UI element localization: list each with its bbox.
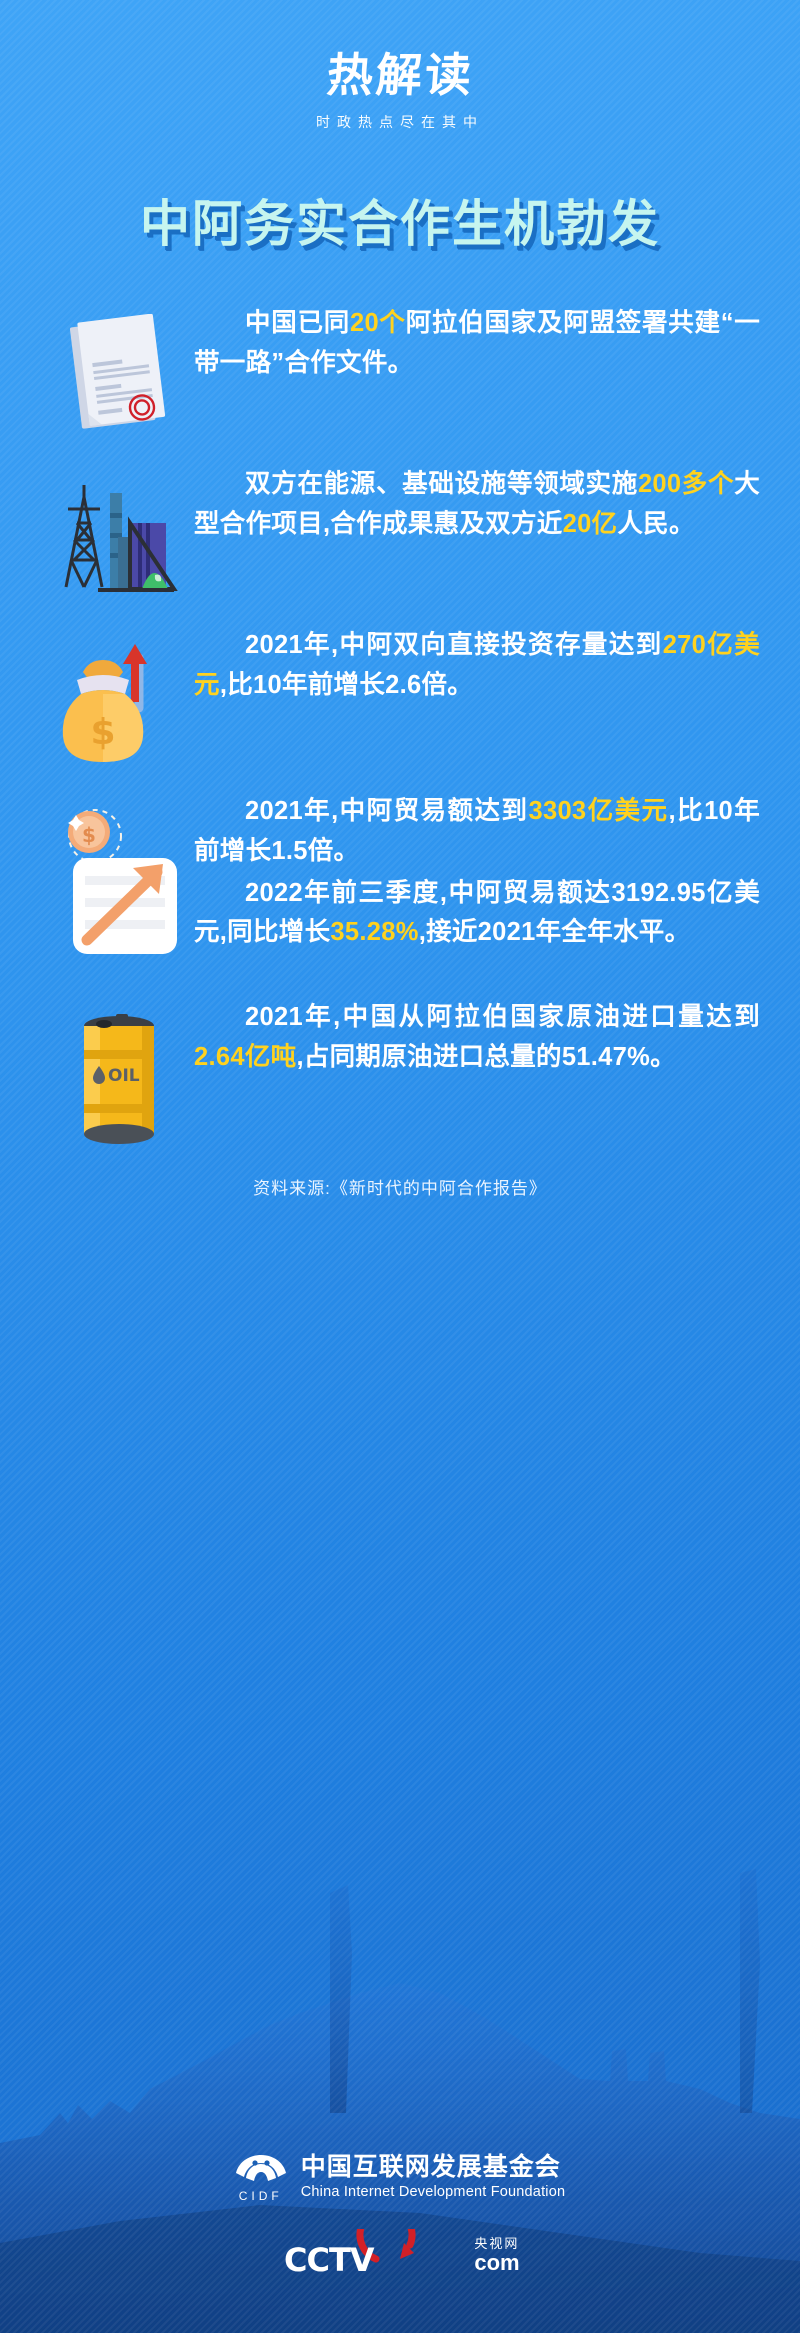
stat-paragraph: 2021年,中阿贸易额达到3303亿美元,比10年前增长1.5倍。 — [194, 792, 760, 872]
footer: CIDF 中国互联网发展基金会 China Internet Developme… — [0, 2151, 800, 2281]
cctv-com-mark: CCTV — [280, 2229, 480, 2281]
cidf-mark: CIDF — [235, 2151, 287, 2203]
stat-block: 中国已同20个阿拉伯国家及阿盟签署共建“一带一路”合作文件。 — [0, 304, 800, 439]
stat-paragraph: 2022年前三季度,中阿贸易额达3192.95亿美元,同比增长35.28%,接近… — [194, 874, 760, 954]
highlight-figure: 20个 — [350, 309, 406, 337]
icon-slot — [44, 465, 194, 600]
stat-block: OIL 2021年,中国从阿拉伯国家原油进口量达到2.64亿吨,占同期原油进口总… — [0, 998, 800, 1148]
oil-barrel-icon: OIL — [64, 1008, 174, 1148]
page-title: 中阿务实合作生机勃发 — [0, 184, 800, 256]
text-slot: 2021年,中阿贸易额达到3303亿美元,比10年前增长1.5倍。2022年前三… — [194, 792, 764, 953]
highlight-figure: 3303亿美元 — [528, 797, 668, 825]
energy-infrastructure-icon — [54, 475, 184, 600]
icon-slot — [44, 304, 194, 439]
highlight-figure: 35.28% — [330, 918, 418, 946]
money-bag-icon: $ — [59, 636, 179, 766]
stat-paragraph: 中国已同20个阿拉伯国家及阿盟签署共建“一带一路”合作文件。 — [194, 304, 760, 384]
svg-text:$: $ — [82, 823, 96, 847]
svg-text:$: $ — [90, 712, 115, 753]
paragraph-text: 2021年,中阿双向直接投资存量达到 — [245, 631, 663, 659]
paragraph-text: 中国已同 — [245, 309, 350, 337]
paragraph-text: 人民。 — [617, 510, 694, 538]
source-note: 资料来源:《新时代的中阿合作报告》 — [0, 1174, 800, 1209]
text-slot: 中国已同20个阿拉伯国家及阿盟签署共建“一带一路”合作文件。 — [194, 304, 764, 384]
text-slot: 2021年,中国从阿拉伯国家原油进口量达到2.64亿吨,占同期原油进口总量的51… — [194, 998, 764, 1078]
paragraph-text: ,接近2021年全年水平。 — [419, 918, 691, 946]
cctv-logo: CCTV 央视网 com — [0, 2229, 800, 2281]
paragraph-text: 双方在能源、基础设施等领域实施 — [245, 470, 638, 498]
stat-blocks: 中国已同20个阿拉伯国家及阿盟签署共建“一带一路”合作文件。 — [0, 304, 800, 1148]
stat-block: 双方在能源、基础设施等领域实施200多个大型合作项目,合作成果惠及双方近20亿人… — [0, 465, 800, 600]
paragraph-text: 2021年,中国从阿拉伯国家原油进口量达到 — [245, 1003, 760, 1031]
paragraph-text: 2021年,中阿贸易额达到 — [245, 797, 528, 825]
header: 热解读 时政热点尽在其中 — [0, 0, 800, 132]
stat-paragraph: 2021年,中阿双向直接投资存量达到270亿美元,比10年前增长2.6倍。 — [194, 626, 760, 706]
stat-block: $ 2021年,中阿双向直接投资存量达到270亿美元,比10年前增长2.6倍。 — [0, 626, 800, 766]
paragraph-text: ,比10年前增长2.6倍。 — [220, 671, 473, 699]
highlight-figure: 20亿 — [563, 510, 618, 538]
cidf-name-cn: 中国互联网发展基金会 — [301, 2154, 566, 2182]
trade-growth-chart-icon: $ — [55, 802, 183, 972]
cctv-name-cn: 央视网 — [474, 2237, 519, 2250]
icon-slot: $ — [44, 792, 194, 972]
brand-logo: 热解读 — [325, 52, 475, 98]
brand-tagline: 时政热点尽在其中 — [0, 112, 800, 132]
documents-icon — [64, 314, 174, 439]
text-slot: 双方在能源、基础设施等领域实施200多个大型合作项目,合作成果惠及双方近20亿人… — [194, 465, 764, 545]
cidf-logo: CIDF 中国互联网发展基金会 China Internet Developme… — [0, 2151, 800, 2203]
cctv-com-label: com — [474, 2252, 519, 2274]
cidf-globe-icon — [235, 2151, 287, 2187]
highlight-figure: 2.64亿吨 — [194, 1043, 296, 1071]
stat-paragraph: 双方在能源、基础设施等领域实施200多个大型合作项目,合作成果惠及双方近20亿人… — [194, 465, 760, 545]
stat-paragraph: 2021年,中国从阿拉伯国家原油进口量达到2.64亿吨,占同期原油进口总量的51… — [194, 998, 760, 1078]
svg-text:CCTV: CCTV — [284, 2241, 375, 2279]
svg-text:OIL: OIL — [108, 1066, 140, 1086]
paragraph-text: ,占同期原油进口总量的51.47%。 — [296, 1043, 675, 1071]
icon-slot: OIL — [44, 998, 194, 1148]
cidf-name-en: China Internet Development Foundation — [301, 2184, 566, 2200]
cidf-abbreviation: CIDF — [239, 2189, 283, 2203]
icon-slot: $ — [44, 626, 194, 766]
highlight-figure: 200多个 — [638, 470, 734, 498]
stat-block: $ 2021年,中阿贸易额达到3303亿美元,比10年前增长1.5倍。2022年… — [0, 792, 800, 972]
cidf-names: 中国互联网发展基金会 China Internet Development Fo… — [301, 2154, 566, 2201]
text-slot: 2021年,中阿双向直接投资存量达到270亿美元,比10年前增长2.6倍。 — [194, 626, 764, 706]
